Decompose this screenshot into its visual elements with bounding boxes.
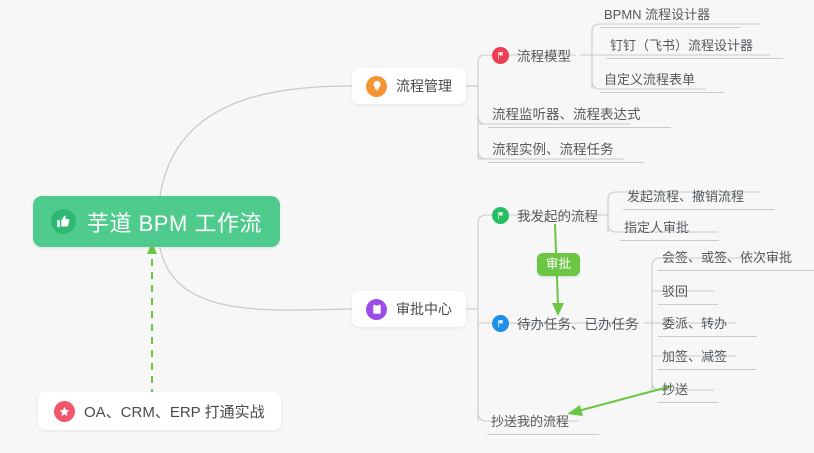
leaf-process-listener-expression[interactable]: 流程监听器、流程表达式 — [488, 100, 671, 128]
approval-badge: 审批 — [537, 253, 580, 276]
leaf-start-cancel-process[interactable]: 发起流程、撤销流程 — [623, 182, 774, 210]
leaf-label: 抄送我的流程 — [491, 411, 569, 434]
mindmap-canvas: 芋道 BPM 工作流 OA、CRM、ERP 打通实战 流程管理 流程模型 — [0, 0, 814, 453]
star-icon — [54, 401, 75, 422]
branch-label: 流程管理 — [396, 76, 452, 96]
leaf-label: 加签、减签 — [662, 346, 727, 369]
leaf-label: BPMN 流程设计器 — [604, 4, 710, 27]
leaf-countersign[interactable]: 会签、或签、依次审批 — [658, 243, 814, 271]
node-label: 我发起的流程 — [517, 205, 598, 225]
leaf-label: 抄送 — [662, 379, 688, 402]
flag-green-icon — [492, 207, 509, 224]
leaf-label: 驳回 — [662, 281, 688, 304]
leaf-label: 会签、或签、依次审批 — [662, 247, 792, 270]
node-label: 待办任务、已办任务 — [517, 313, 639, 333]
branch-process-management[interactable]: 流程管理 — [352, 68, 466, 104]
branch-label: 审批中心 — [396, 299, 452, 319]
flag-red-icon — [492, 47, 509, 64]
root-label: 芋道 BPM 工作流 — [87, 206, 262, 238]
leaf-label: 流程监听器、流程表达式 — [492, 103, 641, 127]
approval-badge-label: 审批 — [546, 257, 571, 271]
branch-approval-center[interactable]: 审批中心 — [352, 291, 466, 327]
leaf-dingtalk-feishu-designer[interactable]: 钉钉（飞书）流程设计器 — [606, 31, 783, 59]
leaf-label: 指定人审批 — [624, 217, 689, 240]
leaf-label: 流程实例、流程任务 — [492, 138, 614, 162]
footnote-node[interactable]: OA、CRM、ERP 打通实战 — [38, 392, 281, 430]
leaf-reject[interactable]: 驳回 — [658, 277, 718, 305]
wire-footnote-to-root — [147, 242, 157, 396]
leaf-delegate-transfer[interactable]: 委派、转办 — [658, 309, 757, 337]
lightbulb-icon — [366, 76, 387, 97]
thumbs-up-icon — [51, 209, 76, 234]
node-label: 流程模型 — [517, 45, 571, 65]
leaf-assignee-approval[interactable]: 指定人审批 — [620, 213, 719, 241]
flag-blue-icon — [492, 315, 509, 332]
footnote-label: OA、CRM、ERP 打通实战 — [84, 401, 265, 422]
leaf-process-instance-task[interactable]: 流程实例、流程任务 — [488, 135, 644, 163]
wire-root-to-process-management — [160, 86, 352, 196]
wire-pm-corner-listener — [478, 115, 486, 124]
wire-root-to-approval-center — [160, 248, 352, 310]
wire-pm-corner-instance — [478, 150, 486, 159]
clipboard-icon — [366, 299, 387, 320]
node-todo-done-tasks[interactable]: 待办任务、已办任务 — [492, 309, 639, 337]
leaf-custom-process-form[interactable]: 自定义流程表单 — [600, 65, 725, 93]
leaf-label: 发起流程、撤销流程 — [627, 186, 744, 209]
node-process-model[interactable]: 流程模型 — [492, 41, 571, 69]
leaf-label: 钉钉（飞书）流程设计器 — [610, 35, 753, 58]
root-node[interactable]: 芋道 BPM 工作流 — [33, 196, 280, 247]
leaf-bpmn-designer[interactable]: BPMN 流程设计器 — [600, 0, 740, 28]
leaf-cc[interactable]: 抄送 — [658, 375, 718, 403]
leaf-add-remove-sign[interactable]: 加签、减签 — [658, 342, 757, 370]
leaf-label: 委派、转办 — [662, 313, 727, 336]
node-my-initiated-process[interactable]: 我发起的流程 — [492, 201, 598, 229]
leaf-cc-to-me-process[interactable]: 抄送我的流程 — [487, 407, 599, 435]
leaf-label: 自定义流程表单 — [604, 69, 695, 92]
